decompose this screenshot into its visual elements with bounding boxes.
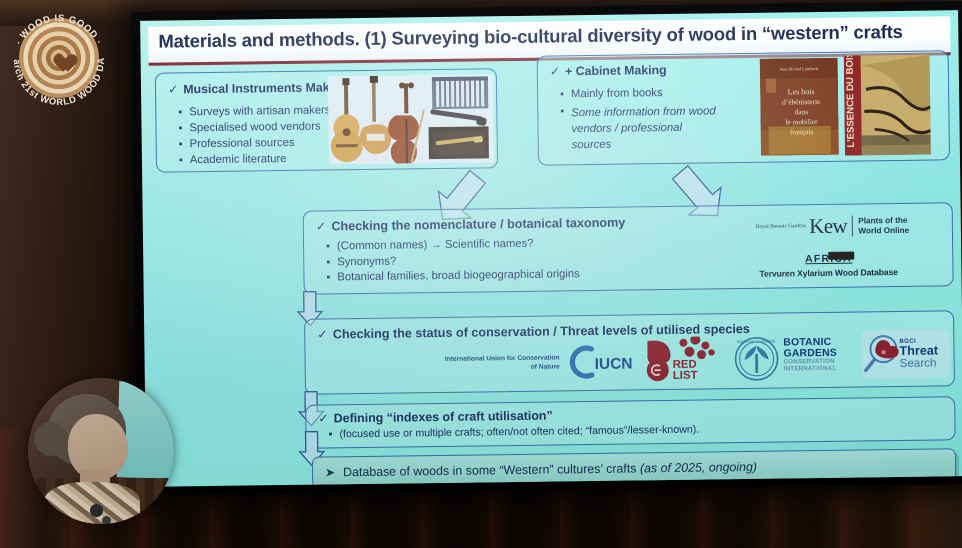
list-item: ▪(Common names) → Scientific names? xyxy=(326,237,579,253)
list-item: ▪Specialised wood vendors xyxy=(178,121,330,136)
box-musical-instruments: ✓Musical Instruments Making ▪Surveys wit… xyxy=(155,68,498,172)
svg-text:d’ébénisterie: d’ébénisterie xyxy=(782,97,821,107)
indexes-heading: Defining “indexes of craft utilisation” xyxy=(334,409,553,426)
bgci-threat-search-logo: BGCI Threat Search xyxy=(861,329,950,378)
kew-logo: Royal Botanic Gardens Kew Plants of the … xyxy=(756,213,921,240)
database-note: (as of 2025, ongoing) xyxy=(640,460,757,476)
box-cabinet-making: ✓+ Cabinet Making ▪Mainly from books ▪So… xyxy=(537,50,950,165)
bullet-icon: ▪ xyxy=(328,428,332,441)
list-item: ▪Professional sources xyxy=(179,137,331,152)
database-output-bar: ➤ Database of woods in some “Western” cu… xyxy=(312,448,956,487)
presentation-photo: Materials and methods. (1) Surveying bio… xyxy=(0,0,962,548)
svg-text:Jean-Michel Lamberti: Jean-Michel Lamberti xyxy=(779,66,819,72)
list-item: ▪Some information from wood vendors / pr… xyxy=(560,103,721,154)
badge-arc-text: · WOOD IS GOOD · March 21st WORLD WOOD D… xyxy=(6,5,112,111)
svg-text:IUCN: IUCN xyxy=(595,355,633,372)
bgci-wordmark: BOTANIC GARDENS CONSERVATION INTERNATION… xyxy=(783,337,837,373)
bullet-icon: ▪ xyxy=(179,155,183,168)
iucn-caption: International Union for Conservation of … xyxy=(442,354,560,373)
svg-text:Les bois: Les bois xyxy=(788,87,815,96)
iucn-logo: IUCN xyxy=(563,342,642,386)
instruments-bullet-list: ▪Surveys with artisan makers ▪Specialise… xyxy=(178,104,331,167)
africa-xylarium-logo: AFRICA Tervuren Xylarium Wood Database xyxy=(759,248,898,279)
badge-arc-top: · WOOD IS GOOD · xyxy=(13,12,105,47)
book-cover-essence-du-bois: L'ESSENCE DU BOIS xyxy=(844,55,931,156)
nomenclature-heading: Checking the nomenclature / botanical ta… xyxy=(331,216,625,234)
slide-canvas: Materials and methods. (1) Surveying bio… xyxy=(140,10,962,487)
list-item: ▪Mainly from books xyxy=(560,86,720,101)
kew-powo-label: Plants of the World Online xyxy=(858,215,920,236)
bullet-icon: ▪ xyxy=(326,240,330,253)
indexes-heading-row: ✓Defining “indexes of craft utilisation” xyxy=(318,408,553,426)
bullet-icon: ▪ xyxy=(179,139,183,152)
kew-wordmark: Kew xyxy=(809,214,847,239)
check-icon: ✓ xyxy=(317,327,328,341)
speaker-hair-bun xyxy=(34,422,68,456)
bullet-icon: ▪ xyxy=(178,106,182,119)
world-wood-day-badge: · WOOD IS GOOD · March 21st WORLD WOOD D… xyxy=(6,5,112,111)
kew-divider xyxy=(852,216,854,237)
nomenclature-bullet-list: ▪(Common names) → Scientific names? ▪Syn… xyxy=(326,237,580,284)
list-item: ▪Botanical families, broad biogeographic… xyxy=(326,268,579,284)
speaker-scarf xyxy=(44,482,140,524)
bullet-icon: ▪ xyxy=(178,122,182,135)
threat-search-wordmark: BGCI Threat Search xyxy=(899,338,938,369)
list-item: ▪Surveys with artisan makers xyxy=(178,104,330,119)
svg-text:dans: dans xyxy=(795,107,809,116)
africa-chip-icon xyxy=(828,252,854,260)
list-item: ▪(focused use or multiple crafts; often/… xyxy=(328,424,699,441)
arrow-bullet-icon: ➤ xyxy=(325,465,335,479)
cabinet-heading: + Cabinet Making xyxy=(565,63,667,78)
box-conservation: ✓Checking the status of conservation / T… xyxy=(304,310,955,395)
check-icon: ✓ xyxy=(316,219,327,233)
speaker-video-inset[interactable] xyxy=(28,378,174,524)
check-icon: ✓ xyxy=(168,82,178,96)
magnifier-icon xyxy=(861,332,902,377)
microphone-icon xyxy=(90,504,103,517)
check-icon: ✓ xyxy=(550,64,560,78)
bgci-emblem-icon: BOTANIC GARDENS xyxy=(733,336,780,388)
instruments-heading: Musical Instruments Making xyxy=(183,80,348,96)
cabinet-bullet-list: ▪Mainly from books ▪Some information fro… xyxy=(560,86,721,154)
cabinet-heading-row: ✓+ Cabinet Making xyxy=(550,63,667,79)
page-title: Materials and methods. (1) Surveying bio… xyxy=(158,21,903,53)
kew-subtitle: Royal Botanic Gardens xyxy=(756,223,806,230)
book-cover-les-bois: Jean-Michel Lamberti Les bois d’ébéniste… xyxy=(760,58,839,156)
iucn-red-list-logo: RED LIST xyxy=(643,336,722,388)
svg-text:BOTANIC GARDENS: BOTANIC GARDENS xyxy=(737,339,776,345)
database-text: Database of woods in some “Western” cult… xyxy=(343,460,757,479)
africa-subtitle: Tervuren Xylarium Wood Database xyxy=(759,267,898,279)
svg-text:le mobilier: le mobilier xyxy=(785,117,818,126)
nomenclature-heading-row: ✓Checking the nomenclature / botanical t… xyxy=(316,215,626,234)
box-craft-indexes: ✓Defining “indexes of craft utilisation”… xyxy=(305,396,956,449)
instruments-heading-row: ✓Musical Instruments Making xyxy=(168,80,348,96)
svg-text:LIST: LIST xyxy=(673,370,698,382)
svg-text:français: français xyxy=(790,127,814,136)
projection-screen: Materials and methods. (1) Surveying bio… xyxy=(131,1,962,495)
bullet-icon: ▪ xyxy=(560,105,564,118)
list-item: ▪Synonyms? xyxy=(326,253,579,269)
bullet-icon: ▪ xyxy=(326,256,330,269)
list-item: ▪Academic literature xyxy=(179,153,331,168)
svg-text:L'ESSENCE DU BOIS: L'ESSENCE DU BOIS xyxy=(845,55,857,148)
bullet-icon: ▪ xyxy=(326,272,330,285)
instruments-photo xyxy=(328,74,494,164)
box-nomenclature: ✓Checking the nomenclature / botanical t… xyxy=(303,202,954,295)
bullet-icon: ▪ xyxy=(560,88,564,101)
check-icon: ✓ xyxy=(318,411,329,425)
